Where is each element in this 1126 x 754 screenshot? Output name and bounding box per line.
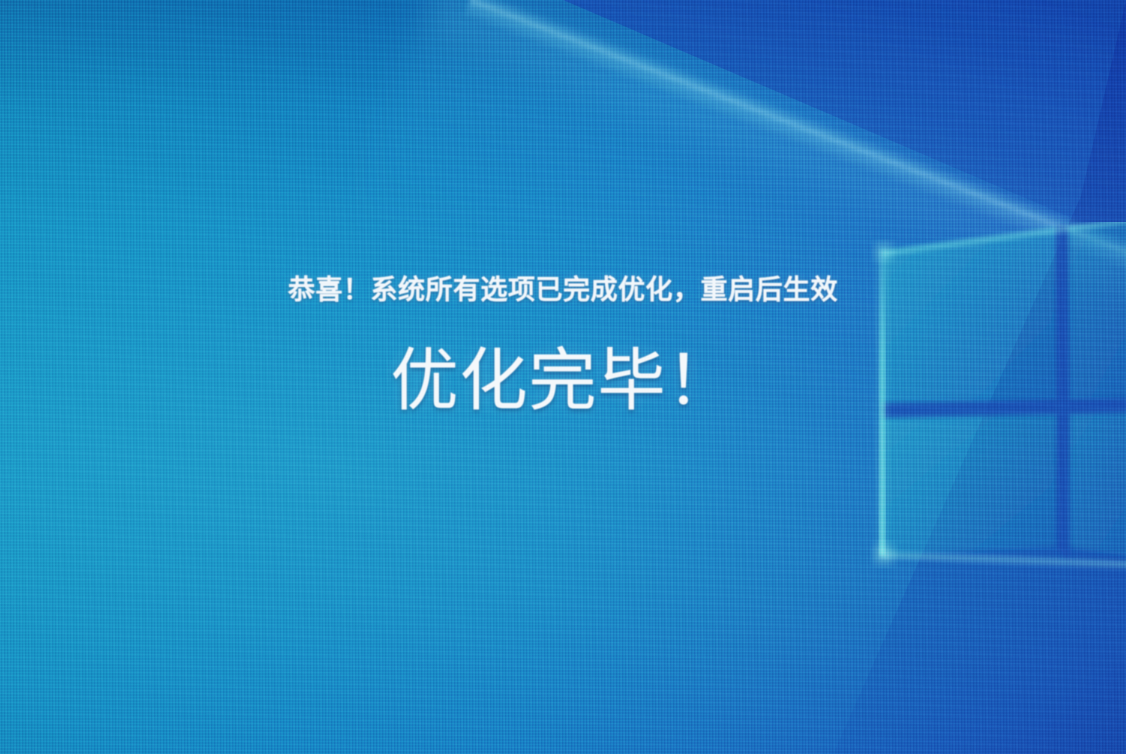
optimization-result-subtitle: 恭喜！系统所有选项已完成优化，重启后生效 — [0, 277, 1126, 304]
optimization-complete-title: 优化完毕！ — [0, 347, 1126, 415]
desktop-screen: 恭喜！系统所有选项已完成优化，重启后生效 优化完毕！ — [0, 0, 1126, 754]
message-text-layer: 恭喜！系统所有选项已完成优化，重启后生效 优化完毕！ — [0, 0, 1126, 754]
